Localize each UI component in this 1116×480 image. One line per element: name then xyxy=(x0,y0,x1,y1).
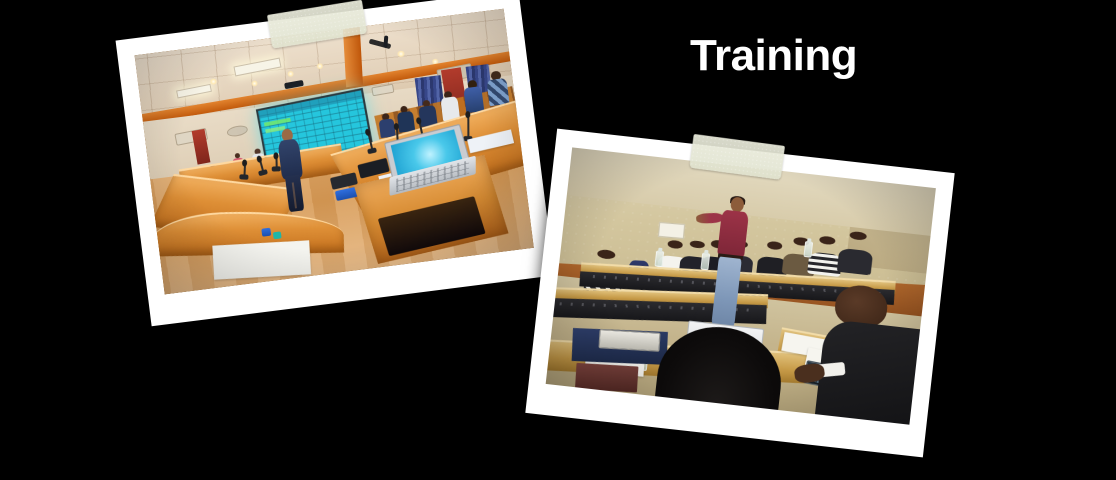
page-title: Training xyxy=(690,32,857,80)
photo-card-2[interactable] xyxy=(525,129,954,458)
photo-card-1[interactable] xyxy=(116,0,555,326)
training-gallery-section: Training xyxy=(0,0,1116,480)
photo-1-image xyxy=(135,9,534,295)
photo-2-image xyxy=(546,147,936,424)
